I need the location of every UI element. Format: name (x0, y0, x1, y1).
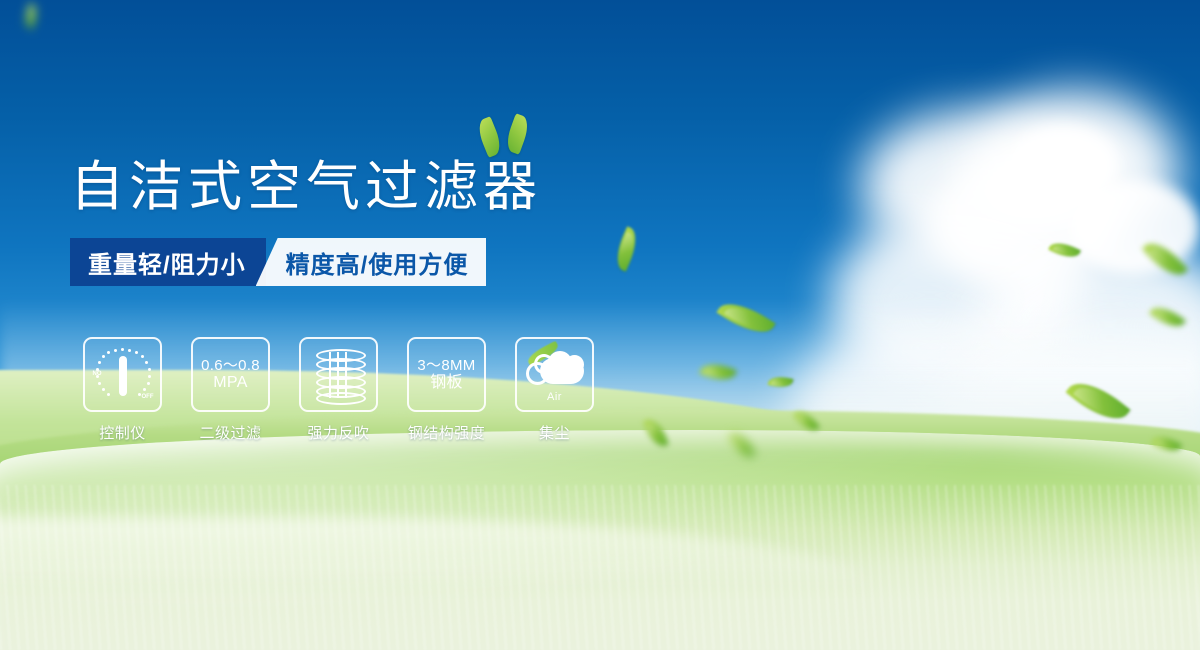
pressure-unit: MPA (201, 374, 260, 392)
subtitle-left: 重量轻/阻力小 (70, 238, 266, 286)
steel-icon: 3～8MM 钢板 (417, 357, 475, 393)
leaf-decoration (716, 294, 775, 342)
pressure-icon: 0.6～0.8 MPA (201, 357, 260, 393)
feature-icon-box: 3～8MM 钢板 (407, 337, 486, 412)
feature-item-pressure[interactable]: 0.6～0.8 MPA 二级过滤 (193, 337, 268, 443)
leaf-decoration (699, 359, 736, 386)
feature-item-dust[interactable]: Air 集尘 (517, 337, 592, 443)
page-title: 自洁式空气过滤器 (70, 142, 542, 221)
leaf-decoration (1142, 235, 1188, 283)
feature-item-controller[interactable]: NO OFF 控制仪 (85, 337, 160, 443)
subtitle-bar: 重量轻/阻力小 精度高/使用方便 (70, 238, 486, 286)
feature-caption: 控制仪 (99, 422, 146, 443)
leaf-decoration (768, 374, 794, 390)
feature-item-steel[interactable]: 3～8MM 钢板 钢结构强度 (409, 337, 484, 443)
gauge-icon: NO OFF (94, 347, 152, 403)
leaf-decoration (1048, 238, 1081, 262)
leaf-decoration (23, 3, 40, 29)
feature-caption: 集尘 (539, 422, 570, 443)
feature-list: NO OFF 控制仪 0.6～0.8 MPA 二级过滤 (85, 337, 592, 443)
gauge-needle (119, 356, 127, 396)
gauge-label-no: NO (93, 371, 102, 377)
feature-caption: 二级过滤 (199, 422, 261, 443)
feature-icon-box: NO OFF (83, 337, 162, 412)
feature-icon-box (299, 337, 378, 412)
subtitle-right: 精度高/使用方便 (256, 238, 487, 286)
feature-icon-box: 0.6～0.8 MPA (191, 337, 270, 412)
gauge-label-off: OFF (142, 394, 154, 400)
pressure-value: 0.6～0.8 (201, 357, 260, 374)
leaf-decoration (610, 226, 643, 271)
product-banner: 自洁式空气过滤器 重量轻/阻力小 精度高/使用方便 (0, 0, 1200, 650)
feature-icon-box: Air (515, 337, 594, 412)
air-cloud-icon: Air (524, 350, 586, 400)
coil-icon (316, 349, 362, 401)
feature-caption: 强力反吹 (307, 422, 369, 443)
steel-thickness: 3～8MM (417, 357, 475, 374)
feature-caption: 钢结构强度 (408, 422, 486, 443)
steel-material: 钢板 (417, 374, 475, 392)
grass-foreground (0, 430, 1200, 650)
air-label: Air (524, 391, 586, 403)
leaf-decoration (1149, 301, 1185, 333)
feature-item-backblow[interactable]: 强力反吹 (301, 337, 376, 443)
